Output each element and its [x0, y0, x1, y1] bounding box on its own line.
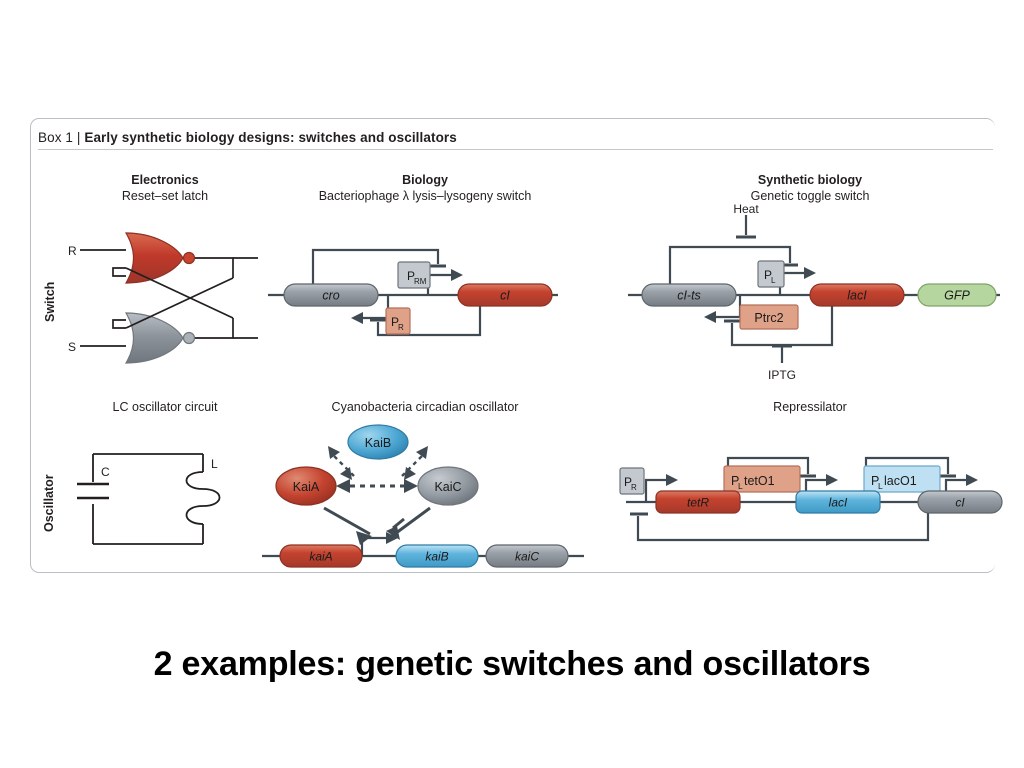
label-reset-input: R: [68, 244, 77, 258]
gene-kaiB: kaiB: [396, 545, 478, 567]
panel-lc-oscillator: C L: [75, 432, 265, 562]
subtitle-lc-oscillator: LC oscillator circuit: [55, 400, 275, 414]
arrow-kaiA-to-operon: [324, 508, 370, 534]
gene-kaiC: kaiC: [486, 545, 568, 567]
panel-toggle-switch: Heat IPTG cI-ts lacI GFP P L Ptrc2: [628, 205, 1008, 385]
promoter-Ptrc2: Ptrc2: [740, 305, 798, 329]
promoter-suffix: tetO1: [744, 474, 775, 488]
protein-label: KaiA: [293, 480, 320, 494]
gene-GFP: GFP: [918, 284, 996, 306]
gene-label: cI-ts: [677, 289, 701, 303]
gene-cI: cI: [918, 491, 1002, 513]
prm-promoter-arrow-line: [428, 275, 451, 295]
promoter-PL: P L: [758, 261, 784, 287]
nor-gate-gray-bubble: [184, 333, 195, 344]
gene-label: cI: [955, 496, 965, 510]
subtitle-cyanobacteria-oscillator: Cyanobacteria circadian oscillator: [280, 400, 570, 414]
wire-feedback-top-stub: [113, 268, 126, 276]
gene-label: kaiA: [309, 550, 332, 564]
slide-caption: 2 examples: genetic switches and oscilla…: [0, 645, 1024, 684]
gene-label: kaiC: [515, 550, 539, 564]
row-label-oscillator: Oscillator: [42, 452, 56, 532]
gene-cro: cro: [284, 284, 378, 306]
gene-kaiA: kaiA: [280, 545, 362, 567]
gene-lacI: lacI: [810, 284, 904, 306]
column-subtitle: Genetic toggle switch: [670, 188, 950, 204]
column-title: Synthetic biology: [670, 172, 950, 188]
column-subtitle: Reset–set latch: [55, 188, 275, 204]
protein-label: KaiB: [365, 436, 391, 450]
box-title: Box 1 | Early synthetic biology designs:…: [38, 130, 993, 150]
column-subtitle: Bacteriophage λ lysis–lysogeny switch: [280, 188, 570, 204]
protein-label: KaiC: [434, 480, 461, 494]
gene-cI: cI: [458, 284, 552, 306]
gene-tetR: tetR: [656, 491, 740, 513]
gene-cI-ts: cI-ts: [642, 284, 736, 306]
prm-arrowhead: [451, 269, 463, 281]
nor-gate-red-body: [126, 233, 183, 283]
column-header-biology: Biology Bacteriophage λ lysis–lysogeny s…: [280, 172, 570, 204]
pr-arrowhead: [351, 312, 363, 324]
box-title-text: Early synthetic biology designs: switche…: [84, 130, 457, 145]
promoter-PLtetO1: P L tetO1: [724, 466, 800, 492]
gene-label: lacI: [847, 289, 867, 303]
column-header-electronics: Electronics Reset–set latch: [55, 172, 275, 204]
promoter-sub: L: [738, 481, 743, 491]
pllac-arrowhead: [966, 474, 978, 486]
panel-lambda-switch: cro cI P RM P R: [268, 240, 568, 350]
gene-label: kaiB: [425, 550, 448, 564]
gene-lacI: lacI: [796, 491, 880, 513]
gene-label: cI: [500, 289, 510, 303]
inductor-coil: [187, 472, 220, 524]
capacitor-label: C: [101, 465, 110, 479]
input-label-heat: Heat: [733, 202, 759, 216]
gene-label: lacI: [829, 496, 848, 510]
gene-label: GFP: [944, 289, 970, 303]
arrowhead-kaiA-to-kaiC: [404, 479, 418, 493]
promoter-sub: RM: [414, 277, 427, 286]
promoter-PRM: P RM: [398, 262, 430, 288]
protein-KaiB: KaiB: [348, 425, 408, 459]
promoter-sub: R: [631, 483, 637, 492]
column-title: Electronics: [55, 172, 275, 188]
wire-cross-up: [126, 268, 233, 318]
wire-bottom-output: [195, 318, 233, 338]
ptrc2-arrowhead: [704, 311, 716, 323]
subtitle-repressilator: Repressilator: [670, 400, 950, 414]
promoter-PR: P R: [386, 308, 410, 334]
wire-top-output: [195, 258, 233, 278]
wire-cross-down: [126, 278, 233, 328]
arrowhead-kaiC-to-kaiA: [336, 479, 350, 493]
protein-KaiA: KaiA: [276, 467, 336, 505]
panel-repressilator: P R P L tetO1 P L lacO1 tetR lacI cI: [618, 440, 1008, 560]
column-title: Biology: [280, 172, 570, 188]
inductor-label: L: [211, 457, 218, 471]
promoter-sub: L: [771, 276, 776, 285]
panel-kai-oscillator: KaiB KaiA KaiC kaiA kaiB kaiC: [262, 424, 592, 564]
row-label-switch: Switch: [43, 262, 57, 322]
pl-arrowhead: [804, 267, 816, 279]
promoter-sub: R: [398, 323, 404, 332]
label-set-input: S: [68, 340, 76, 354]
promoter-sub: L: [878, 481, 883, 491]
protein-KaiC: KaiC: [418, 467, 478, 505]
pr-arrowhead: [666, 474, 678, 486]
pltet-arrowhead: [826, 474, 838, 486]
wire-feedback-bottom-stub: [113, 320, 126, 328]
nor-gate-gray-body: [126, 313, 183, 363]
gene-label: cro: [322, 289, 339, 303]
panel-rs-latch: R S: [58, 228, 288, 368]
nor-gate-red-bubble: [184, 253, 195, 264]
column-header-synthetic-biology: Synthetic biology Genetic toggle switch: [670, 172, 950, 204]
promoter-label: Ptrc2: [754, 311, 783, 325]
gene-label: tetR: [687, 496, 709, 510]
input-label-iptg: IPTG: [768, 368, 796, 382]
promoter-PLlacO1: P L lacO1: [864, 466, 940, 492]
promoter-suffix: lacO1: [884, 474, 917, 488]
promoter-PR: P R: [620, 468, 644, 494]
box-label: Box 1 |: [38, 130, 84, 145]
